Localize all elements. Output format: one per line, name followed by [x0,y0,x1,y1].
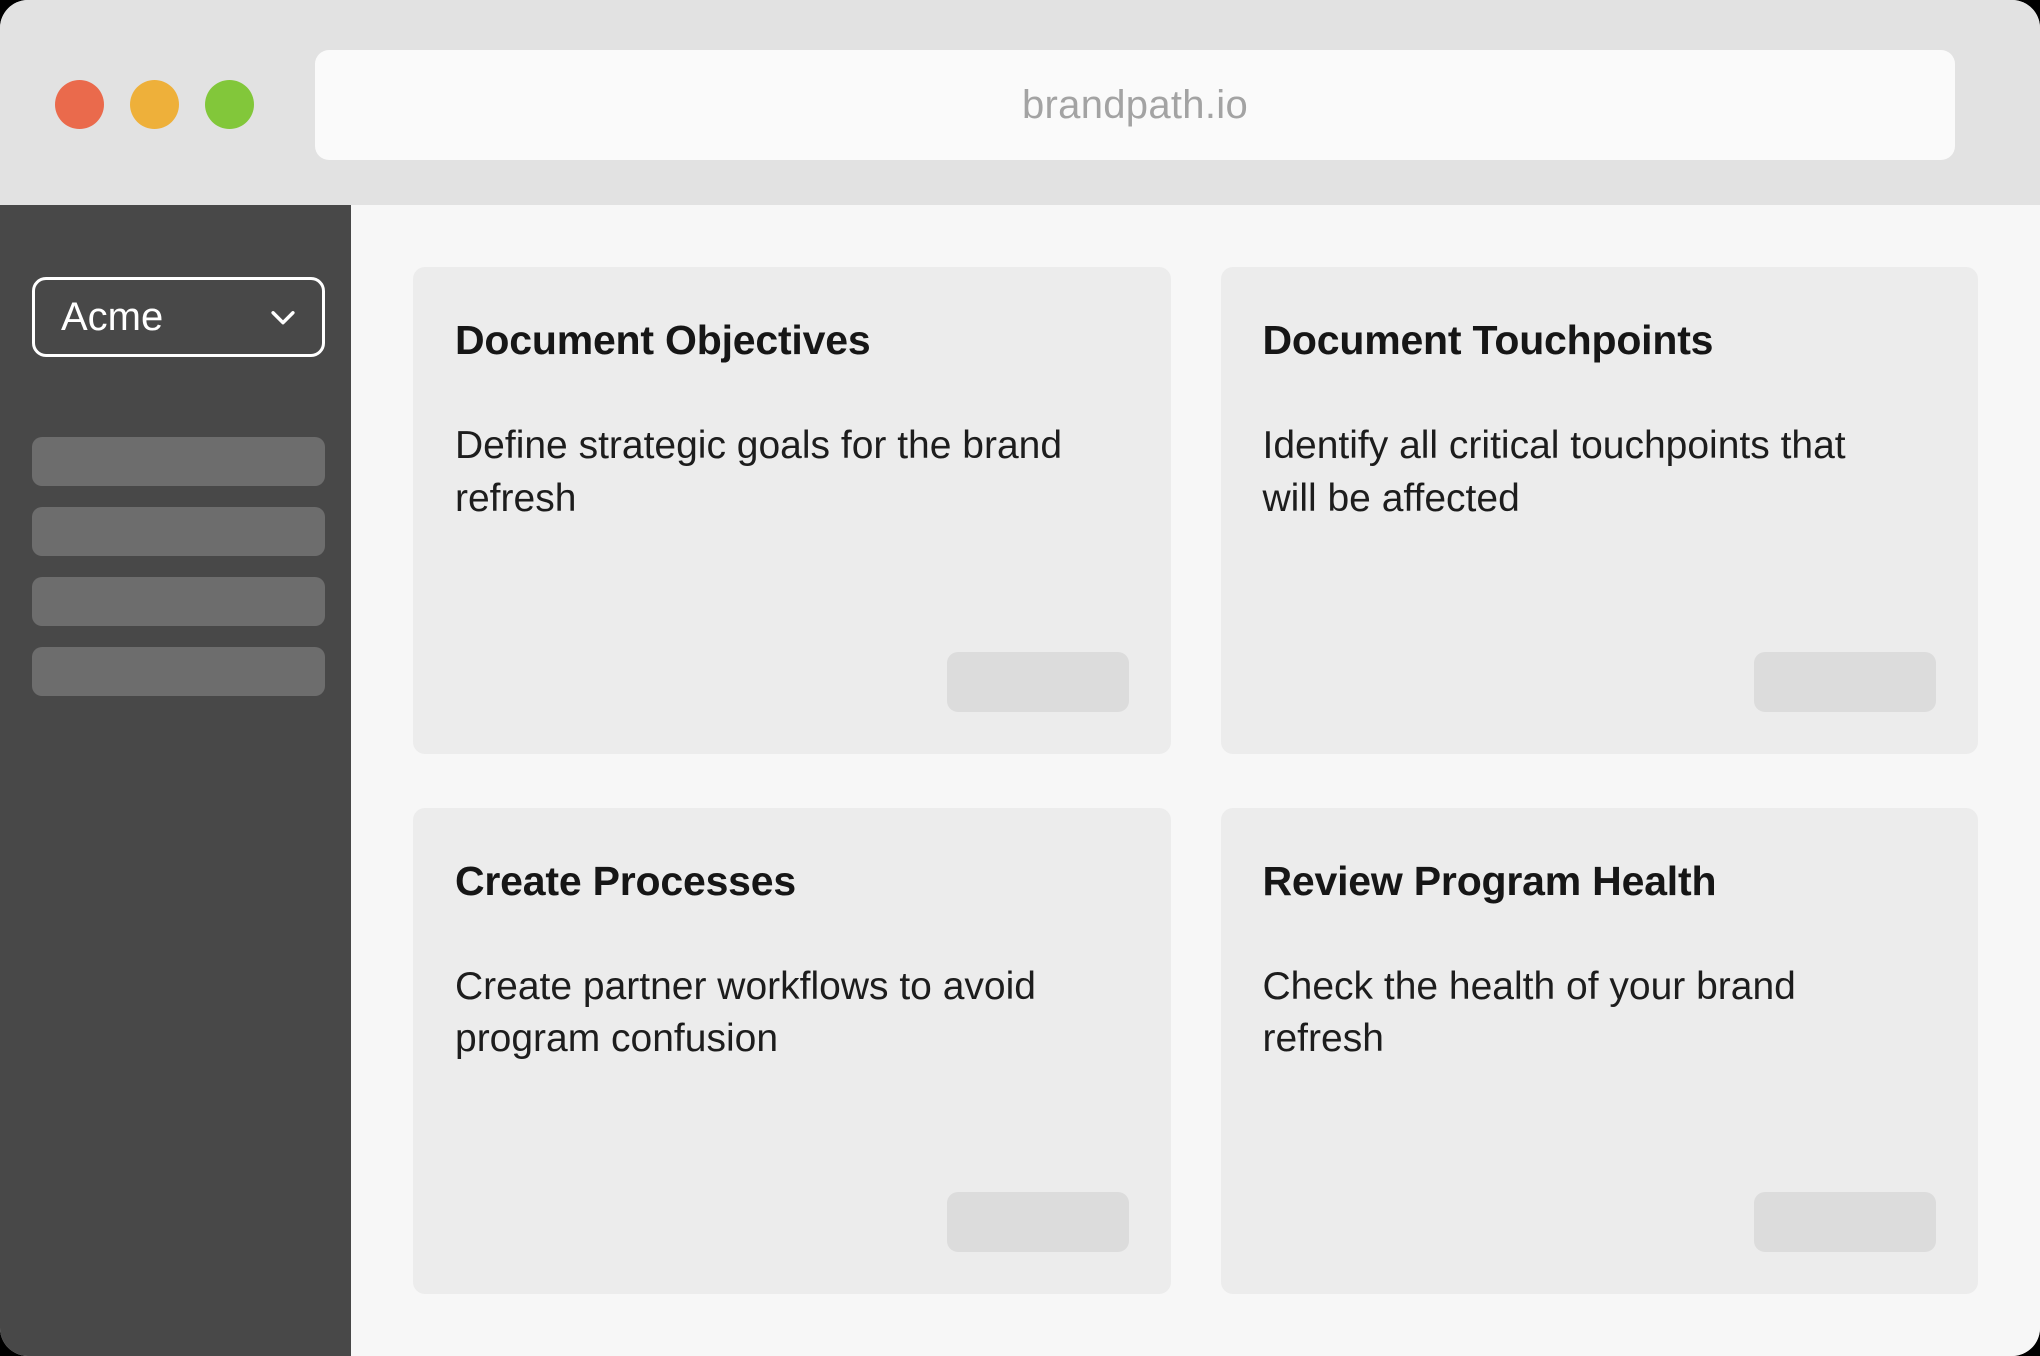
chevron-down-icon [266,300,300,334]
task-card[interactable]: Document Touchpoints Identify all critic… [1221,267,1979,754]
card-description: Identify all critical touchpoints that w… [1263,420,1903,525]
task-card[interactable]: Document Objectives Define strategic goa… [413,267,1171,754]
card-action-button[interactable] [1754,652,1936,712]
card-description: Define strategic goals for the brand ref… [455,420,1095,525]
main-content: Document Objectives Define strategic goa… [351,205,2040,1356]
sidebar-nav-list [32,437,325,696]
app-body: Acme Document Objectives Define str [0,205,2040,1356]
browser-window: brandpath.io Acme [0,0,2040,1356]
browser-titlebar: brandpath.io [0,0,2040,205]
url-text: brandpath.io [1022,83,1248,128]
sidebar-nav-item-3[interactable] [32,577,325,626]
card-title: Create Processes [455,858,1129,905]
card-title: Document Objectives [455,317,1129,364]
window-controls [55,80,254,129]
task-card-grid: Document Objectives Define strategic goa… [413,267,1978,1294]
address-bar[interactable]: brandpath.io [315,50,1955,160]
minimize-window-button[interactable] [130,80,179,129]
task-card[interactable]: Review Program Health Check the health o… [1221,808,1979,1295]
card-action-button[interactable] [1754,1192,1936,1252]
sidebar-nav-item-2[interactable] [32,507,325,556]
sidebar-nav-item-4[interactable] [32,647,325,696]
card-description: Check the health of your brand refresh [1263,961,1903,1066]
close-window-button[interactable] [55,80,104,129]
task-card[interactable]: Create Processes Create partner workflow… [413,808,1171,1295]
maximize-window-button[interactable] [205,80,254,129]
card-description: Create partner workflows to avoid progra… [455,961,1095,1066]
sidebar: Acme [0,205,351,1356]
card-action-button[interactable] [947,652,1129,712]
card-title: Review Program Health [1263,858,1937,905]
card-title: Document Touchpoints [1263,317,1937,364]
org-switcher-dropdown[interactable]: Acme [32,277,325,357]
sidebar-nav-item-1[interactable] [32,437,325,486]
card-action-button[interactable] [947,1192,1129,1252]
org-switcher-label: Acme [61,297,163,337]
